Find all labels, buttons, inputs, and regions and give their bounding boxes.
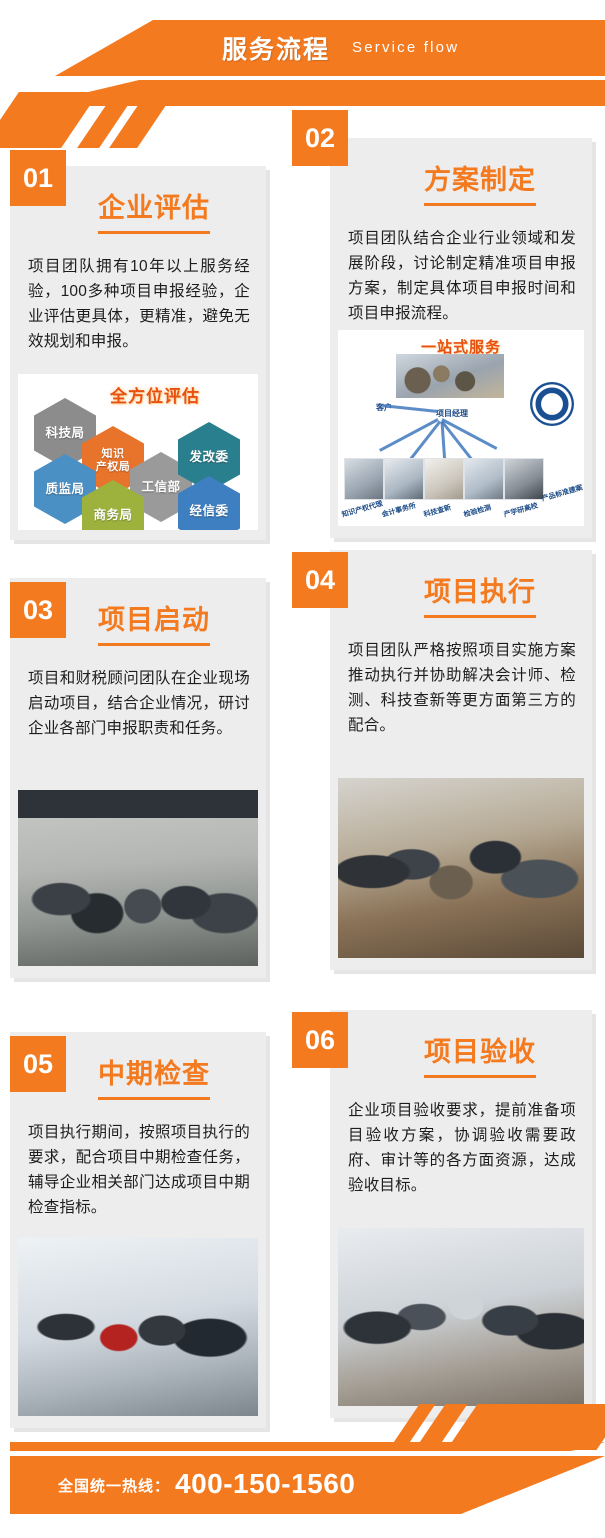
photo-acceptance-meeting [338, 1228, 584, 1406]
step-badge-02: 02 [292, 110, 348, 166]
photo-working-meeting [338, 778, 584, 958]
step-badge-06: 06 [292, 1012, 348, 1068]
one-stop-caption-5: 产学研高校 [503, 501, 539, 520]
step-badge-03: 03 [10, 582, 66, 638]
footer-stripe [10, 1442, 605, 1451]
one-stop-thumb-1 [344, 458, 384, 500]
one-stop-service-diagram: 一站式服务 客户 项目经理 知识产权代理 会计事务所 科技查新 检验检测 产学研… [338, 330, 584, 526]
card-body-01: 项目团队拥有10年以上服务经验，100多种项目申报经验，企业评估更具体，更精准，… [28, 254, 250, 354]
step-card-04: 项目执行 项目团队严格按照项目实施方案推动执行并协助解决会计师、检测、科技查新等… [330, 550, 592, 970]
one-stop-caption-2: 会计事务所 [381, 501, 417, 520]
card-body-03: 项目和财税顾问团队在企业现场启动项目，结合企业情况，研讨企业各部门申报职责和任务… [28, 666, 250, 741]
card-title-05: 中期检查 [98, 1052, 210, 1100]
one-stop-thumb-3 [424, 458, 464, 500]
card-body-06: 企业项目验收要求，提前准备项目验收方案，协调验收需要政府、审计等的各方面资源，达… [348, 1098, 576, 1198]
page-header: 服务流程 Service flow [0, 0, 605, 112]
step-badge-01: 01 [10, 150, 66, 206]
hotline-label: 全国统一热线： [58, 1475, 170, 1496]
card-title-02: 方案制定 [424, 158, 536, 206]
one-stop-thumb-5 [504, 458, 544, 500]
one-stop-caption-4: 检验检测 [463, 502, 493, 519]
one-stop-center-photo [396, 354, 504, 398]
page-title: 服务流程 [222, 30, 330, 66]
card-title-01: 企业评估 [98, 186, 210, 234]
step-card-01: 企业评估 项目团队拥有10年以上服务经验，100多种项目申报经验，企业评估更具体… [10, 166, 266, 540]
hotline-number[interactable]: 400-150-1560 [175, 1468, 355, 1500]
one-stop-caption-1: 知识产权代理 [341, 499, 384, 520]
step-card-06: 项目验收 企业项目验收要求，提前准备项目验收方案，协调验收需要政府、审计等的各方… [330, 1010, 592, 1418]
hexagon-diagram-title: 全方位评估 [110, 382, 200, 407]
photo-conference-room [18, 790, 258, 966]
step-card-03: 项目启动 项目和财税顾问团队在企业现场启动项目，结合企业情况，研讨企业各部门申报… [10, 578, 266, 978]
hexagon-diagram: 全方位评估 科技局 知识产权局 质监局 工信部 商务局 发改委 经信委 [18, 374, 258, 530]
card-body-02: 项目团队结合企业行业领域和发展阶段，讨论制定精准项目申报方案，制定具体项目申报时… [348, 226, 576, 326]
card-body-05: 项目执行期间，按照项目执行的要求，配合项目中期检查任务，辅导企业相关部门达成项目… [28, 1120, 250, 1220]
step-badge-05: 05 [10, 1036, 66, 1092]
page-subtitle: Service flow [352, 39, 459, 56]
iso-seal-icon [530, 382, 574, 426]
one-stop-node-manager: 项目经理 [436, 408, 468, 419]
one-stop-thumb-4 [464, 458, 504, 500]
card-title-04: 项目执行 [424, 570, 536, 618]
step-badge-04: 04 [292, 552, 348, 608]
photo-site-tour [18, 1238, 258, 1416]
one-stop-thumb-2 [384, 458, 424, 500]
card-title-03: 项目启动 [98, 598, 210, 646]
card-title-06: 项目验收 [424, 1030, 536, 1078]
card-body-04: 项目团队严格按照项目实施方案推动执行并协助解决会计师、检测、科技查新等更方面第三… [348, 638, 576, 738]
one-stop-caption-3: 科技查新 [423, 502, 453, 519]
header-underline-stripe [0, 80, 605, 106]
step-card-02: 方案制定 项目团队结合企业行业领域和发展阶段，讨论制定精准项目申报方案，制定具体… [330, 138, 592, 538]
one-stop-caption-6: 产品标准建案 [541, 483, 584, 504]
